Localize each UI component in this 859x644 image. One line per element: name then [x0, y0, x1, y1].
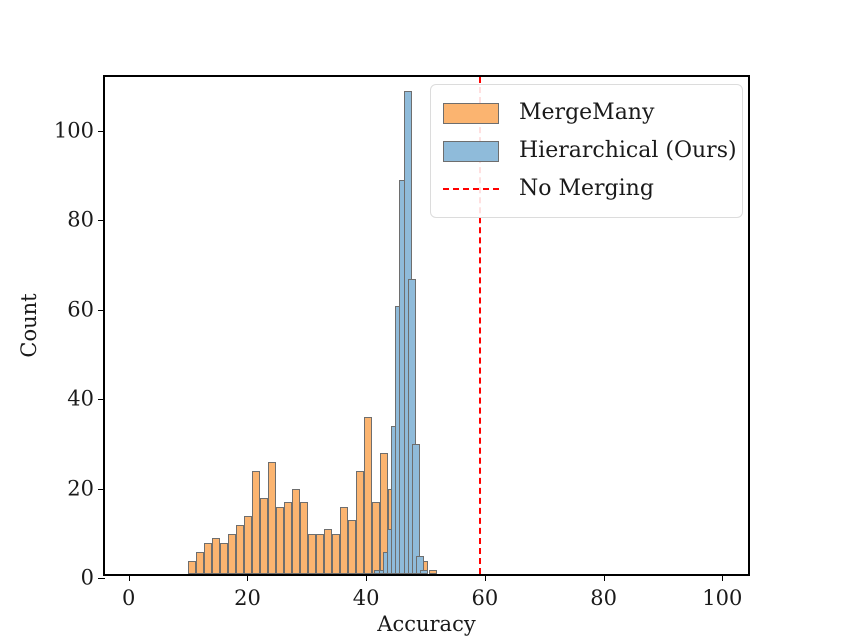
x-tick-mark [604, 574, 605, 581]
legend-swatch-mergemany [443, 103, 499, 124]
legend-item-no-merging: No Merging [443, 170, 730, 208]
x-tick-label: 100 [702, 588, 742, 609]
histogram-bar [348, 520, 356, 574]
legend-label-mergemany: MergeMany [519, 102, 654, 124]
histogram-bar [220, 543, 228, 574]
x-axis-label: Accuracy [103, 612, 750, 636]
x-tick-mark [485, 574, 486, 581]
x-tick-label: 0 [122, 588, 135, 609]
legend-item-hierarchical: Hierarchical (Ours) [443, 132, 730, 170]
y-tick-label: 40 [67, 389, 94, 410]
y-tick-mark [98, 220, 105, 221]
y-tick-label: 80 [67, 210, 94, 231]
x-tick-mark [247, 574, 248, 581]
x-tick-label: 40 [353, 588, 380, 609]
legend-label-hierarchical: Hierarchical (Ours) [519, 140, 737, 162]
histogram-bar [228, 534, 236, 574]
histogram-bar [188, 561, 196, 574]
histogram-bar [324, 529, 332, 574]
y-axis-label: Count [14, 75, 44, 576]
histogram-bar [372, 502, 380, 574]
chart-legend: MergeMany Hierarchical (Ours) No Merging [430, 84, 743, 218]
x-tick-mark [366, 574, 367, 581]
histogram-bar [412, 444, 420, 574]
legend-item-mergemany: MergeMany [443, 94, 730, 132]
y-tick-label: 20 [67, 478, 94, 499]
histogram-bar [356, 471, 364, 574]
histogram-bar [316, 534, 324, 574]
histogram-bar [420, 570, 428, 574]
y-tick-mark [98, 399, 105, 400]
histogram-bar [260, 498, 268, 574]
histogram-bar [204, 543, 212, 574]
histogram-bar [268, 462, 276, 574]
histogram-bar [252, 471, 260, 574]
histogram-bar [340, 507, 348, 574]
histogram-bar [212, 538, 220, 574]
y-tick-mark [98, 310, 105, 311]
histogram-bar [196, 552, 204, 574]
y-tick-mark [98, 578, 105, 579]
histogram-bar [429, 570, 437, 574]
y-tick-label: 0 [81, 568, 94, 589]
histogram-bar [244, 516, 252, 574]
x-tick-label: 20 [234, 588, 261, 609]
histogram-bar [276, 507, 284, 574]
x-tick-label: 80 [590, 588, 617, 609]
histogram-bar [300, 502, 308, 574]
histogram-bar [332, 534, 340, 574]
legend-label-no-merging: No Merging [519, 178, 654, 200]
histogram-bar [292, 489, 300, 574]
histogram-bar [364, 417, 372, 574]
y-tick-label: 100 [54, 120, 94, 141]
x-tick-label: 60 [472, 588, 499, 609]
y-tick-mark [98, 489, 105, 490]
histogram-bar [308, 534, 316, 574]
x-tick-mark [722, 574, 723, 581]
y-tick-label: 60 [67, 299, 94, 320]
histogram-bar [284, 502, 292, 574]
legend-swatch-hierarchical [443, 141, 499, 162]
histogram-bar [236, 525, 244, 574]
histogram-figure: 020406080100 020406080100 Accuracy Count… [0, 0, 859, 644]
x-tick-mark [129, 574, 130, 581]
legend-dashed-line-icon [443, 188, 499, 190]
y-tick-mark [98, 131, 105, 132]
